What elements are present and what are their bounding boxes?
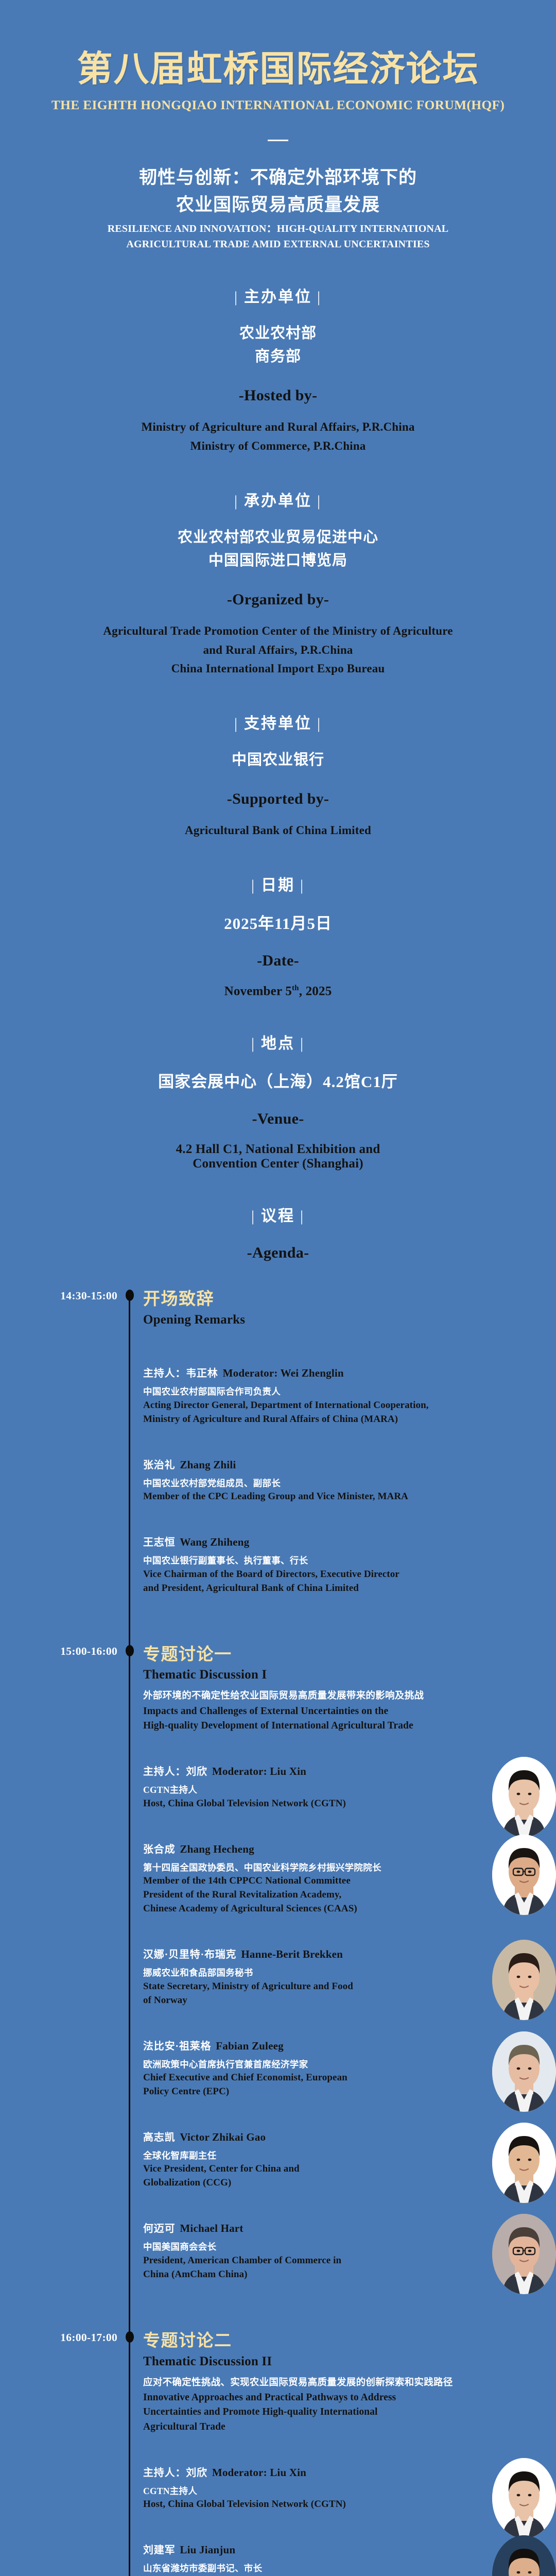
forum-theme-cn-line1: 韧性与创新：不确定外部环境下的 (0, 164, 556, 191)
speaker-avatar (492, 1757, 556, 1837)
timeline-dot-icon (126, 1290, 134, 1301)
speaker-title-cn: CGTN主持人 (143, 2485, 534, 2498)
divider-rule (268, 140, 288, 141)
agenda-topic-cn: 外部环境的不确定性给农业国际贸易高质量发展带来的影响及挑战 (143, 1689, 534, 1703)
host-orgs-en: Ministry of Agriculture and Rural Affair… (0, 418, 556, 456)
speaker-entry: 王志恒Wang Zhiheng中国农业银行副董事长、执行董事、行长Vice Ch… (143, 1534, 534, 1595)
bracket-left: | (229, 289, 244, 306)
section-label-organizer-cn: |承办单位| (0, 488, 556, 511)
agenda-slot-time: 15:00-16:00 (0, 1645, 117, 1658)
host-org-en-2: Ministry of Commerce, P.R.China (0, 437, 556, 456)
bracket-right: | (295, 877, 310, 894)
agenda-slot[interactable]: 14:30-15:00开场致辞Opening Remarks主持人：韦正林Mod… (0, 1290, 556, 1595)
speaker-name-en: Hanne-Berit Brekken (241, 1948, 343, 1960)
section-label-supporter-text: 支持单位 (244, 715, 312, 732)
agenda-slot-body: 开场致辞Opening Remarks主持人：韦正林Moderator: Wei… (143, 1290, 534, 1595)
agenda-session-title-cn: 专题讨论一 (143, 1645, 534, 1665)
speaker-title-cn: 中国美国商会会长 (143, 2241, 534, 2253)
speaker-name-en: Moderator: Liu Xin (212, 2466, 306, 2479)
organizer-orgs-en: Agricultural Trade Promotion Center of t… (0, 622, 556, 679)
bracket-left: | (246, 1035, 261, 1052)
speaker-title-en: President, American Chamber of Commerce … (143, 2254, 534, 2282)
bracket-right: | (295, 1208, 310, 1225)
speaker-title-cn: 第十四届全国政协委员、中国农业科学院乡村振兴学院院长 (143, 1861, 534, 1874)
portrait-icon (492, 2214, 556, 2294)
speaker-name-cn: 张治礼 (143, 1460, 175, 1471)
host-orgs-cn: 农业农村部 商务部 (0, 322, 556, 368)
speaker-name-cn: 刘建军 (143, 2545, 175, 2556)
speaker-avatar (492, 2031, 556, 2112)
speaker-title-cn: 中国农业农村部国际合作司负责人 (143, 1385, 534, 1398)
speaker-entry: 主持人：韦正林Moderator: Wei Zhenglin中国农业农村部国际合… (143, 1365, 534, 1426)
section-label-host-text: 主办单位 (244, 289, 312, 306)
event-date-cn: 2025年11月5日 (0, 910, 556, 934)
agenda-session-title-cn: 开场致辞 (143, 1290, 534, 1310)
bracket-left: | (229, 715, 244, 732)
speaker-name-en: Liu Jianjun (180, 2544, 235, 2556)
section-label-agenda-cn: |议程| (0, 1203, 556, 1226)
speaker-entry: 法比安·祖莱格Fabian Zuleeg欧洲政策中心首席执行官兼首席经济学家Ch… (143, 2038, 534, 2099)
speaker-name-row: 刘建军Liu Jianjun (143, 2541, 534, 2556)
organizer-org-cn-1: 农业农村部农业贸易促进中心 (0, 526, 556, 549)
speaker-name-row: 汉娜·贝里特·布瑞克Hanne-Berit Brekken (143, 1946, 534, 1961)
speaker-name-cn: 张合成 (143, 1844, 175, 1855)
portrait-icon (492, 2031, 556, 2112)
forum-theme-cn-line2: 农业国际贸易高质量发展 (0, 191, 556, 218)
speaker-name-cn: 何迈可 (143, 2223, 175, 2234)
speaker-name-row: 主持人：韦正林Moderator: Wei Zhenglin (143, 1365, 534, 1380)
host-org-en-1: Ministry of Agriculture and Rural Affair… (0, 418, 556, 437)
agenda-session-title-en: Thematic Discussion II (143, 2354, 534, 2369)
speaker-name-row: 主持人：刘欣Moderator: Liu Xin (143, 2464, 534, 2479)
host-org-cn-1: 农业农村部 (0, 322, 556, 345)
speaker-entry: 高志凯Victor Zhikai Gao全球化智库副主任Vice Preside… (143, 2129, 534, 2190)
speaker-name-row: 张合成Zhang Hecheng (143, 1841, 534, 1856)
speaker-title-en: Vice President, Center for China andGlob… (143, 2162, 534, 2190)
agenda-session-title-en: Thematic Discussion I (143, 1667, 534, 1683)
host-org-cn-2: 商务部 (0, 345, 556, 368)
speaker-title-en: Member of the 14th CPPCC National Commit… (143, 1874, 534, 1916)
forum-theme-en-line1: RESILIENCE AND INNOVATION：HIGH-QUALITY I… (0, 221, 556, 236)
speaker-title-en: Acting Director General, Department of I… (143, 1399, 534, 1427)
forum-theme-cn: 韧性与创新：不确定外部环境下的 农业国际贸易高质量发展 (0, 164, 556, 218)
portrait-icon (492, 1757, 556, 1837)
speaker-avatar (492, 2458, 556, 2538)
event-date-en: November 5th, 2025 (0, 984, 556, 998)
bracket-right: | (312, 289, 327, 306)
speaker-entry: 何迈可Michael Hart中国美国商会会长President, Americ… (143, 2220, 534, 2281)
agenda-slot-time: 16:00-17:00 (0, 2331, 117, 2344)
speaker-entry: 主持人：刘欣Moderator: Liu XinCGTN主持人Host, Chi… (143, 1763, 534, 1810)
agenda-topic-cn: 应对不确定性挑战、实现农业国际贸易高质量发展的创新探索和实践路径 (143, 2376, 534, 2389)
speaker-name-cn: 王志恒 (143, 1537, 175, 1548)
agenda-session-title-cn: 专题讨论二 (143, 2331, 534, 2351)
speaker-title-cn: 山东省潍坊市委副书记、市长 (143, 2562, 534, 2575)
hero-header: 第八届虹桥国际经济论坛 THE EIGHTH HONGQIAO INTERNAT… (0, 0, 556, 252)
agenda-slot[interactable]: 15:00-16:00专题讨论一Thematic Discussion I外部环… (0, 1645, 556, 2282)
agenda-timeline: 14:30-15:00开场致辞Opening Remarks主持人：韦正林Mod… (0, 1290, 556, 2576)
speaker-name-row: 主持人：刘欣Moderator: Liu Xin (143, 1763, 534, 1778)
section-label-venue-en: -Venue- (0, 1110, 556, 1128)
speaker-name-row: 王志恒Wang Zhiheng (143, 1534, 534, 1549)
speaker-name-cn: 汉娜·贝里特·布瑞克 (143, 1949, 236, 1960)
speaker-avatar (492, 2214, 556, 2294)
agenda-topic-en: Innovative Approaches and Practical Path… (143, 2391, 534, 2434)
supporter-org-en-1: Agricultural Bank of China Limited (0, 821, 556, 840)
speaker-title-cn: 中国农业银行副董事长、执行董事、行长 (143, 1554, 534, 1567)
agenda-topic-en: Impacts and Challenges of External Uncer… (143, 1704, 534, 1734)
bracket-right: | (312, 715, 327, 732)
organizer-org-en-3: China International Import Expo Bureau (0, 659, 556, 679)
section-label-date-en: -Date- (0, 952, 556, 970)
section-label-organizer-en: -Organized by- (0, 591, 556, 608)
speaker-name-en: Victor Zhikai Gao (180, 2131, 266, 2143)
agenda-slot-body: 专题讨论一Thematic Discussion I外部环境的不确定性给农业国际… (143, 1645, 534, 2282)
page-title-cn: 第八届虹桥国际经济论坛 (0, 49, 556, 89)
speaker-name-cn: 主持人：刘欣 (143, 2467, 207, 2479)
speaker-avatar (492, 2535, 556, 2576)
speaker-title-en: Host, China Global Television Network (C… (143, 1797, 534, 1811)
section-label-date-text: 日期 (261, 877, 295, 894)
bracket-right: | (312, 493, 327, 510)
speaker-title-en: Vice Chairman of the Board of Directors,… (143, 1568, 534, 1596)
speaker-name-cn: 法比安·祖莱格 (143, 2041, 211, 2052)
speaker-title-en: Host, China Global Television Network (C… (143, 2498, 534, 2512)
supporter-org-cn-1: 中国农业银行 (0, 749, 556, 772)
section-label-supporter-en: -Supported by- (0, 790, 556, 808)
speaker-name-en: Moderator: Wei Zhenglin (223, 1367, 344, 1379)
speaker-entry: 汉娜·贝里特·布瑞克Hanne-Berit Brekken挪威农业和食品部国务秘… (143, 1946, 534, 2007)
speaker-name-row: 何迈可Michael Hart (143, 2220, 534, 2235)
speaker-title-en: State Secretary, Ministry of Agriculture… (143, 1980, 534, 2008)
speaker-avatar (492, 1835, 556, 1915)
supporter-orgs-cn: 中国农业银行 (0, 749, 556, 772)
page-title-en: THE EIGHTH HONGQIAO INTERNATIONAL ECONOM… (0, 97, 556, 113)
bracket-right: | (295, 1035, 310, 1052)
portrait-icon (492, 1835, 556, 1915)
speaker-title-cn: CGTN主持人 (143, 1784, 534, 1797)
supporter-orgs-en: Agricultural Bank of China Limited (0, 821, 556, 840)
speaker-title-cn: 挪威农业和食品部国务秘书 (143, 1967, 534, 1979)
speaker-name-en: Michael Hart (180, 2222, 243, 2234)
section-label-venue-cn: |地点| (0, 1030, 556, 1053)
portrait-icon (492, 2458, 556, 2538)
section-label-date-cn: |日期| (0, 872, 556, 895)
portrait-icon (492, 2535, 556, 2576)
speaker-title-cn: 全球化智库副主任 (143, 2149, 534, 2162)
speaker-avatar (492, 2123, 556, 2203)
timeline-dot-icon (126, 1645, 134, 1656)
organizer-org-en-1: Agricultural Trade Promotion Center of t… (0, 622, 556, 641)
speaker-name-cn: 主持人：刘欣 (143, 1766, 207, 1777)
bracket-left: | (229, 493, 244, 510)
timeline-dot-icon (126, 2331, 134, 2343)
event-venue-en-line2: Convention Center (Shanghai) (0, 1157, 556, 1171)
section-label-organizer-text: 承办单位 (244, 493, 312, 510)
speaker-entry: 主持人：刘欣Moderator: Liu XinCGTN主持人Host, Chi… (143, 2464, 534, 2512)
event-venue-en-line1: 4.2 Hall C1, National Exhibition and (0, 1142, 556, 1157)
section-label-host-en: -Hosted by- (0, 387, 556, 404)
speaker-name-en: Wang Zhiheng (180, 1536, 249, 1548)
agenda-session-title-en: Opening Remarks (143, 1312, 534, 1328)
speaker-name-cn: 高志凯 (143, 2132, 175, 2143)
forum-theme-en: RESILIENCE AND INNOVATION：HIGH-QUALITY I… (0, 221, 556, 252)
portrait-icon (492, 2123, 556, 2203)
speaker-entry: 张治礼Zhang Zhili中国农业农村部党组成员、副部长Member of t… (143, 1456, 534, 1504)
section-label-host-cn: |主办单位| (0, 284, 556, 307)
speaker-title-en: Member of the CPC Leading Group and Vice… (143, 1490, 534, 1504)
event-venue-en: 4.2 Hall C1, National Exhibition and Con… (0, 1142, 556, 1171)
portrait-icon (492, 1940, 556, 2020)
speaker-entry: 刘建军Liu Jianjun山东省潍坊市委副书记、市长Deputy Secret… (143, 2541, 534, 2576)
speaker-name-en: Zhang Hecheng (180, 1843, 254, 1855)
speaker-name-en: Fabian Zuleeg (216, 2040, 284, 2052)
speaker-name-en: Moderator: Liu Xin (212, 1765, 306, 1777)
forum-theme-en-line2: AGRICULTURAL TRADE AMID EXTERNAL UNCERTA… (0, 236, 556, 252)
section-label-agenda-text: 议程 (261, 1208, 295, 1225)
speaker-avatar (492, 1940, 556, 2020)
organizer-orgs-cn: 农业农村部农业贸易促进中心 中国国际进口博览局 (0, 526, 556, 572)
speaker-name-en: Zhang Zhili (180, 1459, 236, 1471)
speaker-entry: 张合成Zhang Hecheng第十四届全国政协委员、中国农业科学院乡村振兴学院… (143, 1841, 534, 1916)
speaker-name-row: 高志凯Victor Zhikai Gao (143, 2129, 534, 2144)
speaker-name-cn: 主持人：韦正林 (143, 1368, 218, 1379)
speaker-title-cn: 欧洲政策中心首席执行官兼首席经济学家 (143, 2058, 534, 2071)
speaker-title-cn: 中国农业农村部党组成员、副部长 (143, 1477, 534, 1490)
bracket-left: | (246, 1208, 261, 1225)
event-venue-cn: 国家会展中心（上海）4.2馆C1厅 (0, 1069, 556, 1092)
speaker-name-row: 张治礼Zhang Zhili (143, 1456, 534, 1471)
section-label-venue-text: 地点 (261, 1035, 295, 1052)
agenda-slot-body: 专题讨论二Thematic Discussion II应对不确定性挑战、实现农业… (143, 2331, 534, 2576)
organizer-org-cn-2: 中国国际进口博览局 (0, 549, 556, 572)
speaker-title-en: Chief Executive and Chief Economist, Eur… (143, 2071, 534, 2099)
bracket-left: | (246, 877, 261, 894)
speaker-name-row: 法比安·祖莱格Fabian Zuleeg (143, 2038, 534, 2053)
section-label-agenda-en: -Agenda- (0, 1244, 556, 1262)
organizer-org-en-2: and Rural Affairs, P.R.China (0, 641, 556, 660)
section-label-supporter-cn: |支持单位| (0, 710, 556, 733)
agenda-slot[interactable]: 16:00-17:00专题讨论二Thematic Discussion II应对… (0, 2331, 556, 2576)
agenda-slot-time: 14:30-15:00 (0, 1290, 117, 1302)
